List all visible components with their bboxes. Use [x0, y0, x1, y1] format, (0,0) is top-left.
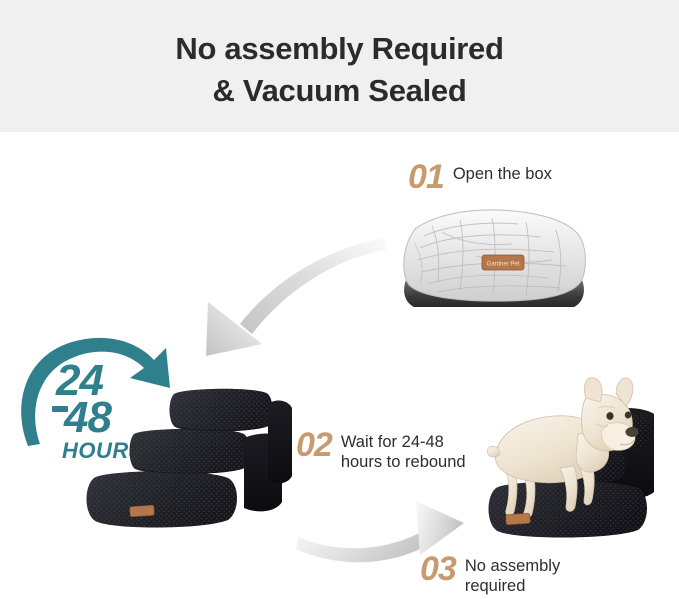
- step-01: 01 Open the box: [408, 160, 552, 194]
- page-title-line-2: & Vacuum Sealed: [0, 70, 679, 112]
- pet-stairs-product-image: [78, 380, 300, 540]
- vacuum-sealed-package-image: Gardner Pet: [398, 206, 590, 330]
- step-02-number: 02: [296, 428, 332, 462]
- package-label-text: Gardner Pet: [487, 262, 520, 268]
- dog-eye-right: [625, 412, 631, 419]
- page-title-line-1: No assembly Required: [0, 28, 679, 70]
- step-01-number: 01: [408, 160, 444, 194]
- step-03: 03 No assembly required: [420, 552, 560, 596]
- step-03-number: 03: [420, 552, 456, 586]
- step-03-text: No assembly required: [465, 552, 560, 596]
- dog-tail: [487, 446, 500, 457]
- curved-arrow-down-left-icon: [178, 232, 388, 362]
- infographic-canvas: 01 Open the box: [0, 132, 679, 599]
- stairs-dog-brand-tag: [506, 513, 531, 525]
- step-02-text: Wait for 24-48 hours to rebound: [341, 428, 466, 472]
- stairs-brand-tag: [130, 505, 155, 517]
- pet-stairs-with-dog-image: [482, 372, 678, 552]
- step-01-text: Open the box: [453, 160, 552, 184]
- dog-nose: [626, 427, 639, 437]
- page-title: No assembly Required & Vacuum Sealed: [0, 28, 679, 112]
- dog-ear-left: [584, 378, 602, 402]
- header-band: No assembly Required & Vacuum Sealed: [0, 0, 679, 132]
- dog-eye-left: [606, 412, 613, 420]
- step-02: 02 Wait for 24-48 hours to rebound: [296, 428, 466, 472]
- package-brand-label: Gardner Pet: [482, 255, 524, 270]
